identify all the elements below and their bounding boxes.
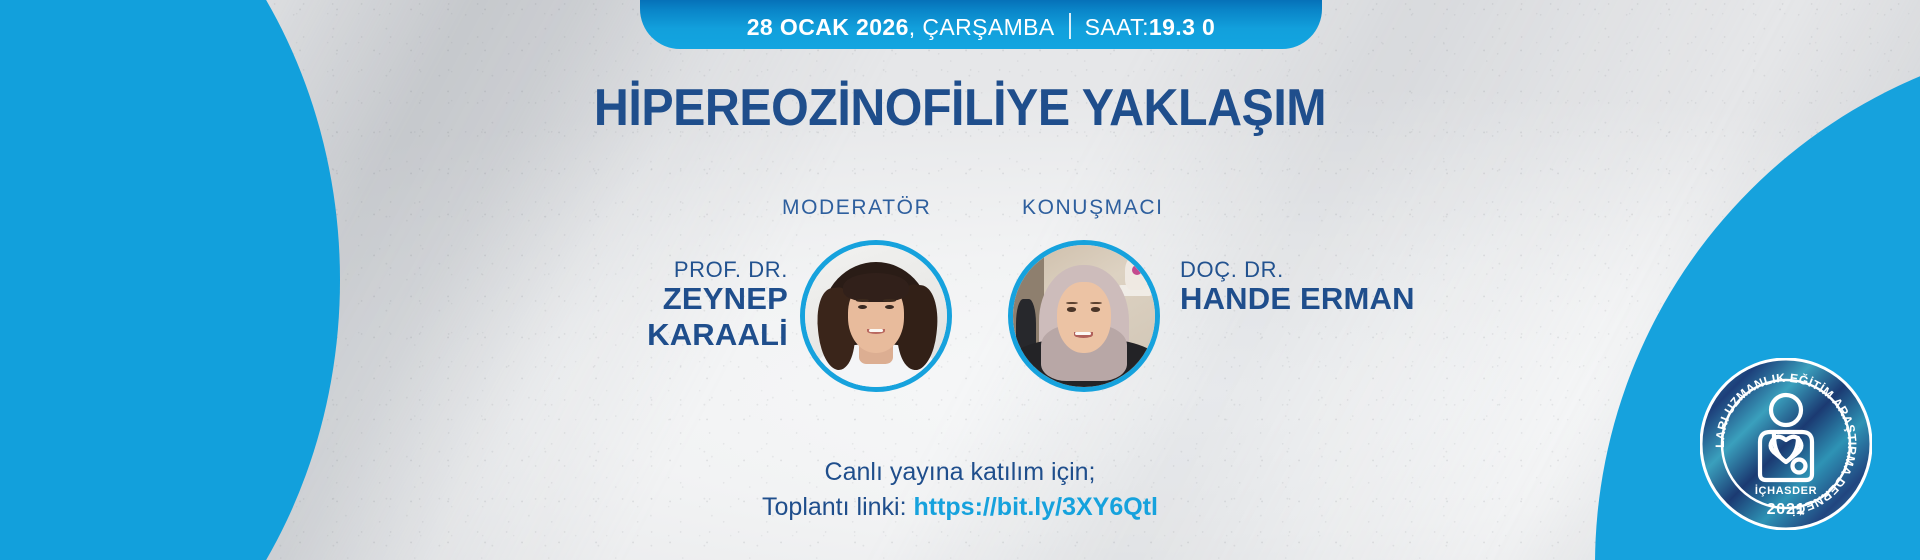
seal-acronym: İÇHASDER [1755,484,1817,497]
speaker-academic-title: DOÇ. DR. [1180,258,1480,281]
speaker-name-block: DOÇ. DR. HANDE ERMAN [1180,258,1480,317]
association-seal: İÇ HASTALIKLARI UZMANLIK EĞİTİM ARAŞTIRM… [1700,358,1872,530]
moderator-academic-title: PROF. DR. [520,258,788,281]
meeting-link[interactable]: https://bit.ly/3XY6Qtl [913,493,1157,521]
time-label: SAAT: [1085,14,1149,41]
association-seal-icon: İÇ HASTALIKLARI UZMANLIK EĞİTİM ARAŞTIRM… [1700,358,1872,530]
event-weekday: , ÇARŞAMBA [909,14,1055,41]
avatar-speaker [1008,240,1160,392]
join-instruction: Canlı yayına katılım için; [0,455,1920,490]
webinar-banner: 28 OCAK 2026, ÇARŞAMBA SAAT: 19.3 0 HİPE… [0,0,1920,560]
event-date: 28 OCAK 2026 [747,14,909,41]
page-title: HİPEREOZİNOFİLİYE YAKLAŞIM [67,78,1853,138]
moderator-name-block: PROF. DR. ZEYNEP KARAALİ [520,258,788,352]
footer-text: Canlı yayına katılım için; Toplantı link… [0,455,1920,524]
moderator-photo [805,245,947,387]
event-time: 19.3 0 [1149,14,1215,41]
role-label-moderator: MODERATÖR [782,196,931,220]
speaker-name: HANDE ERMAN [1180,281,1480,317]
meeting-link-label: Toplantı linki: [762,493,913,521]
moderator-name: ZEYNEP KARAALİ [520,281,788,352]
speaker-photo [1013,245,1155,387]
date-time-pill: 28 OCAK 2026, ÇARŞAMBA SAAT: 19.3 0 [640,0,1322,49]
avatar-moderator [800,240,952,392]
role-label-speaker: KONUŞMACI [1022,196,1164,220]
meeting-link-line: Toplantı linki: https://bit.ly/3XY6Qtl [0,490,1920,525]
pill-divider [1069,13,1071,39]
seal-year: 2021 [1767,501,1806,518]
